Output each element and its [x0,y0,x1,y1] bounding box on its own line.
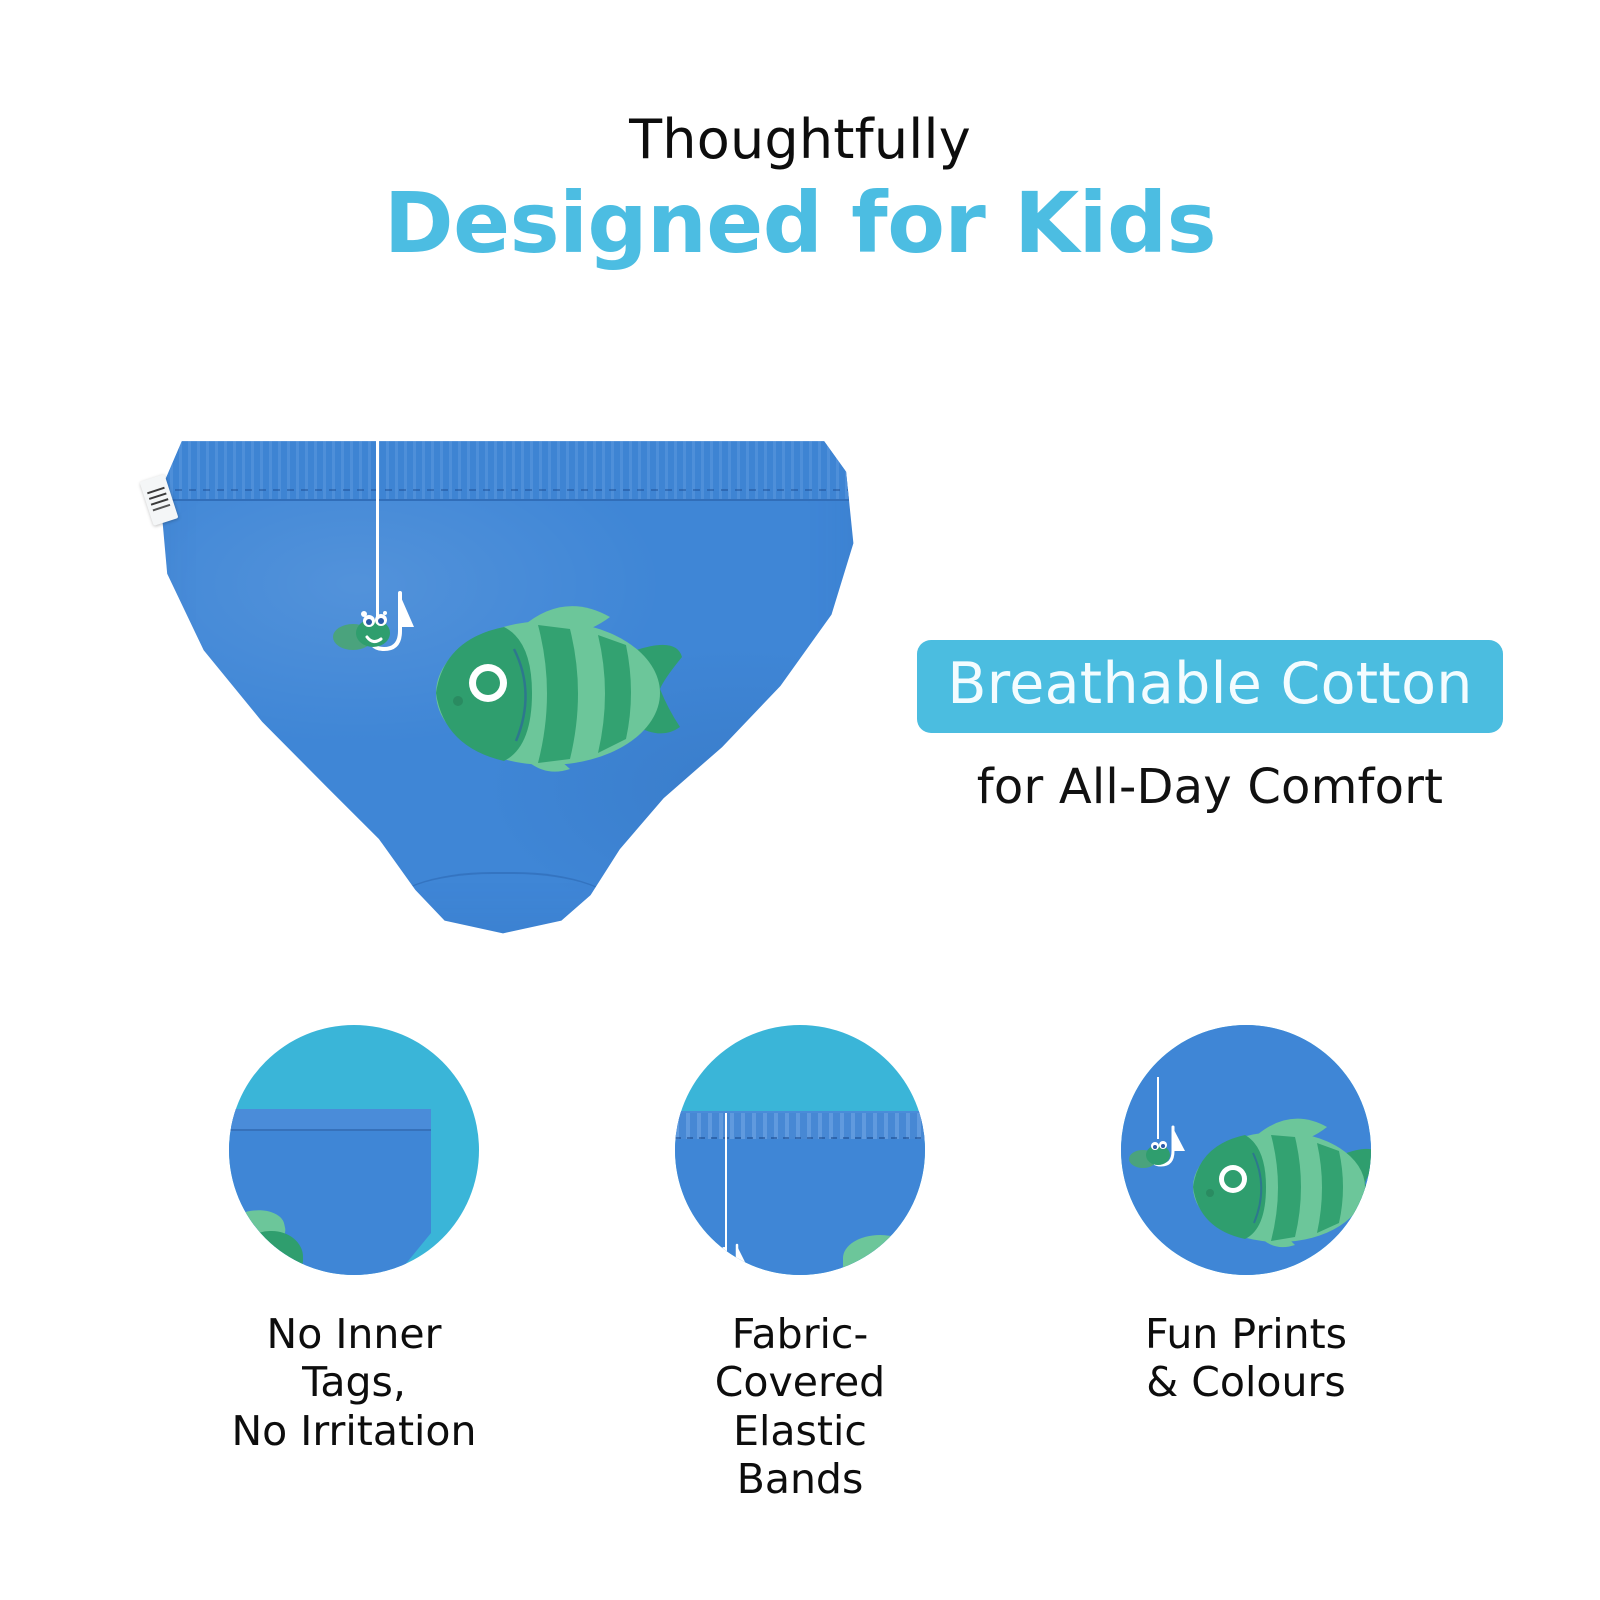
waistband-texture [161,441,851,499]
feature-label-2: Fabric-Covered Elastic Bands [675,1310,925,1504]
feature-label-1: No Inner Tags, No Irritation [229,1310,479,1455]
fish-print-icon [414,583,694,793]
feature-thumbnail-3 [1121,1025,1371,1275]
feature-thumbnail-1 [229,1025,479,1275]
page-header: Thoughtfully Designed for Kids [0,112,1600,268]
kids-brief-illustration [128,415,888,955]
feature-item-elastic-bands: Fabric-Covered Elastic Bands [675,1025,925,1504]
gusset-seam [386,872,620,926]
badge-subtitle: for All-Day Comfort [890,759,1530,815]
elastic-waistband [161,441,851,501]
left-leg-seam [98,609,267,859]
status-badge: Breathable Cotton [917,640,1502,733]
band-ruching [675,1113,925,1139]
feature-list: No Inner Tags, No Irritation Fabric-Cove… [0,1025,1600,1504]
breathable-cotton-block: Breathable Cotton for All-Day Comfort [890,640,1530,815]
bait-worm-crop-icon [1129,1137,1175,1171]
bait-worm-icon [333,607,399,655]
waistband-crop [229,1109,431,1131]
right-leg-seam [730,596,891,851]
page-title: Designed for Kids [0,179,1600,268]
fishing-hook-crop-icon [713,1243,749,1275]
feature-thumbnail-2 [675,1025,925,1275]
feature-item-fun-prints: Fun Prints & Colours [1121,1025,1371,1504]
feature-item-no-inner-tags: No Inner Tags, No Irritation [229,1025,479,1504]
fish-print-crop-icon [1175,1103,1371,1263]
band-stitching [675,1137,925,1139]
eyebrow-text: Thoughtfully [0,112,1600,169]
feature-label-3: Fun Prints & Colours [1145,1310,1347,1407]
product-hero-image [128,415,888,955]
